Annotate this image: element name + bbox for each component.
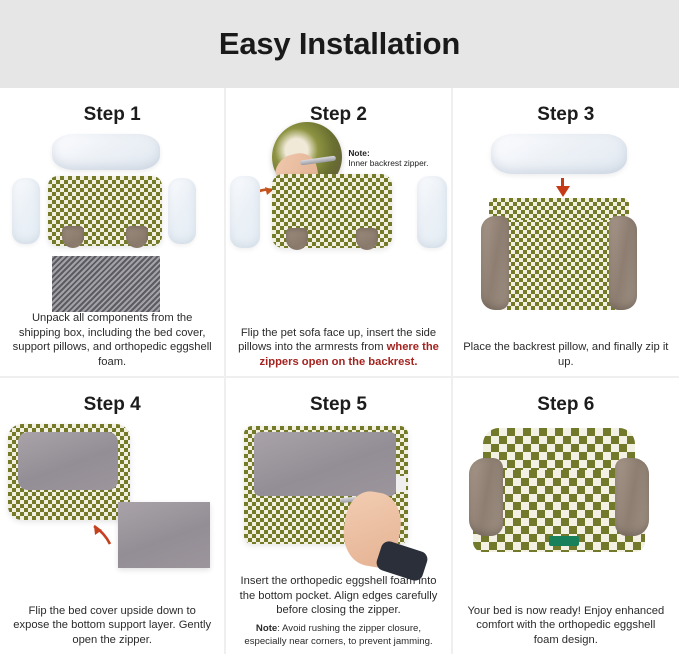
armrest-pocket-right — [356, 228, 378, 250]
step-cell-3: Step 3 Place the backrest pillow, and fi… — [453, 88, 679, 378]
care-label-tab — [396, 476, 406, 492]
step-5-illustration — [226, 416, 450, 574]
eggshell-foam-panel — [118, 502, 210, 568]
steps-grid: Step 1 Unpack all components from the sh… — [0, 88, 679, 654]
step-5-caption-wrap: Insert the orthopedic eggshell foam into… — [226, 574, 450, 654]
step-2-note: Note: Inner backrest zipper. — [348, 148, 428, 168]
step-cell-6: Step 6 Your bed is now ready! Enjoy enha… — [453, 378, 679, 654]
step-1-caption-wrap: Unpack all components from the shipping … — [0, 311, 224, 376]
side-pillow-right — [417, 176, 447, 248]
step-1-title: Step 1 — [84, 104, 141, 126]
brand-tag-icon — [549, 536, 579, 546]
step-3-title: Step 3 — [537, 104, 594, 126]
step-4-title: Step 4 — [84, 394, 141, 416]
note-title: Note: — [348, 148, 428, 158]
side-pillow-left — [230, 176, 260, 248]
step-1-illustration — [0, 126, 224, 311]
bed-cover-face-up — [272, 174, 392, 248]
down-arrow-icon — [556, 178, 570, 197]
armrest-left — [481, 216, 509, 310]
step-2-illustration: Note: Inner backrest zipper. — [226, 126, 450, 326]
step-2-caption-wrap: Flip the pet sofa face up, insert the si… — [226, 326, 450, 376]
step-cell-4: Step 4 Flip the bed cover upside down to… — [0, 378, 226, 654]
backrest-panel — [489, 198, 629, 220]
eggshell-foam-insert — [254, 432, 396, 496]
step-6-illustration — [453, 416, 679, 604]
eggshell-foam — [52, 256, 160, 312]
step-4-caption-wrap: Flip the bed cover upside down to expose… — [0, 604, 224, 654]
note-label: Note — [256, 623, 277, 634]
step-4-caption: Flip the bed cover upside down to expose… — [10, 604, 214, 648]
side-pillow-right — [168, 178, 196, 244]
step-3-illustration — [453, 126, 679, 340]
backrest-pillow — [52, 134, 160, 170]
note-text: Inner backrest zipper. — [348, 158, 428, 168]
step-cell-1: Step 1 Unpack all components from the sh… — [0, 88, 226, 378]
finished-pet-sofa — [469, 428, 649, 552]
bed-cover-upside-down — [8, 424, 130, 520]
step-5-note: Note: Avoid rushing the zipper closure, … — [236, 623, 440, 648]
backrest — [483, 428, 635, 474]
page-title: Easy Installation — [219, 26, 460, 62]
step-cell-5: Step 5 Insert the orthopedic eggshell fo… — [226, 378, 452, 654]
step-2-title: Step 2 — [310, 104, 367, 126]
header-banner: Easy Installation — [0, 0, 679, 88]
step-6-caption-wrap: Your bed is now ready! Enjoy enhanced co… — [453, 604, 679, 654]
bottom-support-layer — [18, 432, 118, 490]
step-5-caption: Insert the orthopedic eggshell foam into… — [236, 574, 440, 618]
curved-arrow-icon — [88, 520, 114, 546]
step-6-caption: Your bed is now ready! Enjoy enhanced co… — [463, 604, 669, 648]
step-4-illustration — [0, 416, 224, 604]
step-3-caption: Place the backrest pillow, and finally z… — [463, 340, 669, 370]
step-5-title: Step 5 — [310, 394, 367, 416]
armrest-left — [469, 458, 503, 536]
side-pillow-left — [12, 178, 40, 244]
step-2-caption: Flip the pet sofa face up, insert the si… — [236, 326, 440, 370]
assembled-base — [481, 198, 637, 310]
backrest-pillow — [491, 134, 627, 174]
armrest-pocket-left — [62, 226, 84, 248]
bed-cover — [48, 176, 162, 246]
step-3-caption-wrap: Place the backrest pillow, and finally z… — [453, 340, 679, 376]
armrest-pocket-left — [286, 228, 308, 250]
step-cell-2: Step 2 Note: Inner backrest zipper. — [226, 88, 452, 378]
step-6-title: Step 6 — [537, 394, 594, 416]
installation-instruction-sheet: Easy Installation Step 1 Unpack all comp… — [0, 0, 679, 654]
armrest-right — [615, 458, 649, 536]
armrest-pocket-right — [126, 226, 148, 248]
step-1-caption: Unpack all components from the shipping … — [10, 311, 214, 370]
armrest-right — [609, 216, 637, 310]
